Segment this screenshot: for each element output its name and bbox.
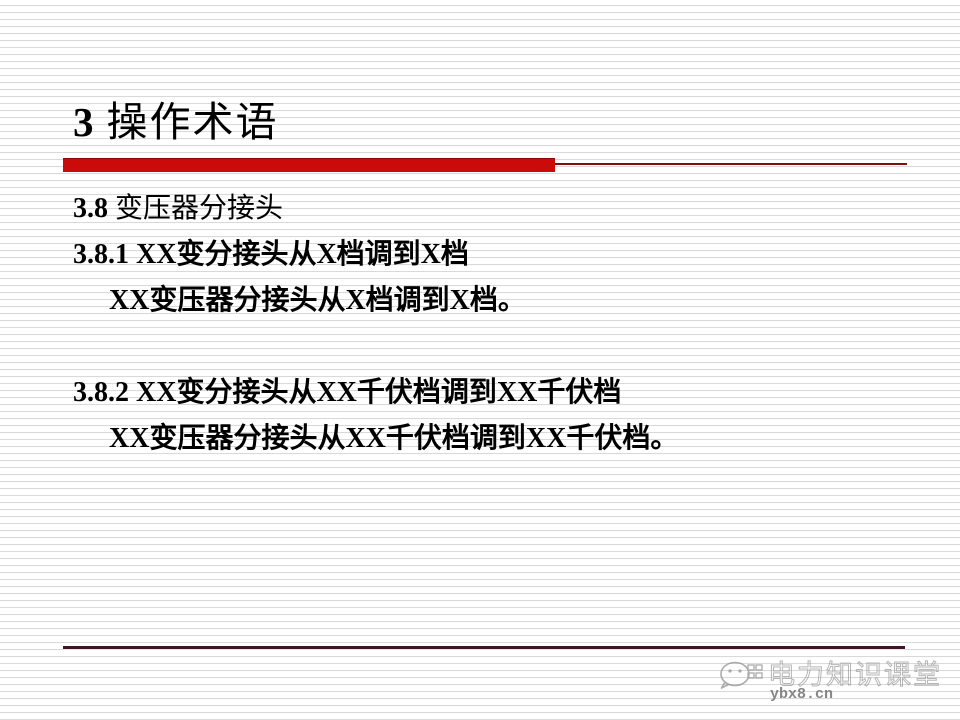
watermark-text: 电力知识课堂 ybx8.cn — [768, 651, 942, 699]
title-divider-red-bar — [63, 158, 555, 172]
body-line-381: 3.8.1 XX变分接头从X档调到X档 — [73, 232, 903, 278]
body-line-381-detail: XX变压器分接头从X档调到X档。 — [73, 278, 903, 324]
page-title: 3 操作术语 — [73, 88, 279, 144]
section-title: 变压器分接头 — [108, 193, 283, 224]
wechat-icon — [718, 655, 764, 695]
watermark-subtitle: ybx8.cn — [770, 686, 833, 703]
page-title-number: 3 — [73, 98, 94, 146]
body-line-section-heading: 3.8 变压器分接头 — [73, 186, 903, 232]
body-line-382-detail: XX变压器分接头从XX千伏档调到XX千伏档。 — [73, 416, 903, 462]
body-line-382: 3.8.2 XX变分接头从XX千伏档调到XX千伏档 — [73, 370, 903, 416]
slide-canvas: 3 操作术语 3.8 变压器分接头 3.8.1 XX变分接头从X档调到X档 XX… — [0, 0, 960, 720]
section-number: 3.8 — [73, 193, 108, 224]
title-divider — [63, 158, 907, 172]
body-line-spacer — [73, 324, 903, 370]
body-content: 3.8 变压器分接头 3.8.1 XX变分接头从X档调到X档 XX变压器分接头从… — [73, 186, 903, 462]
watermark: 电力知识课堂 ybx8.cn — [718, 646, 942, 704]
page-title-text: 操作术语 — [107, 88, 279, 148]
